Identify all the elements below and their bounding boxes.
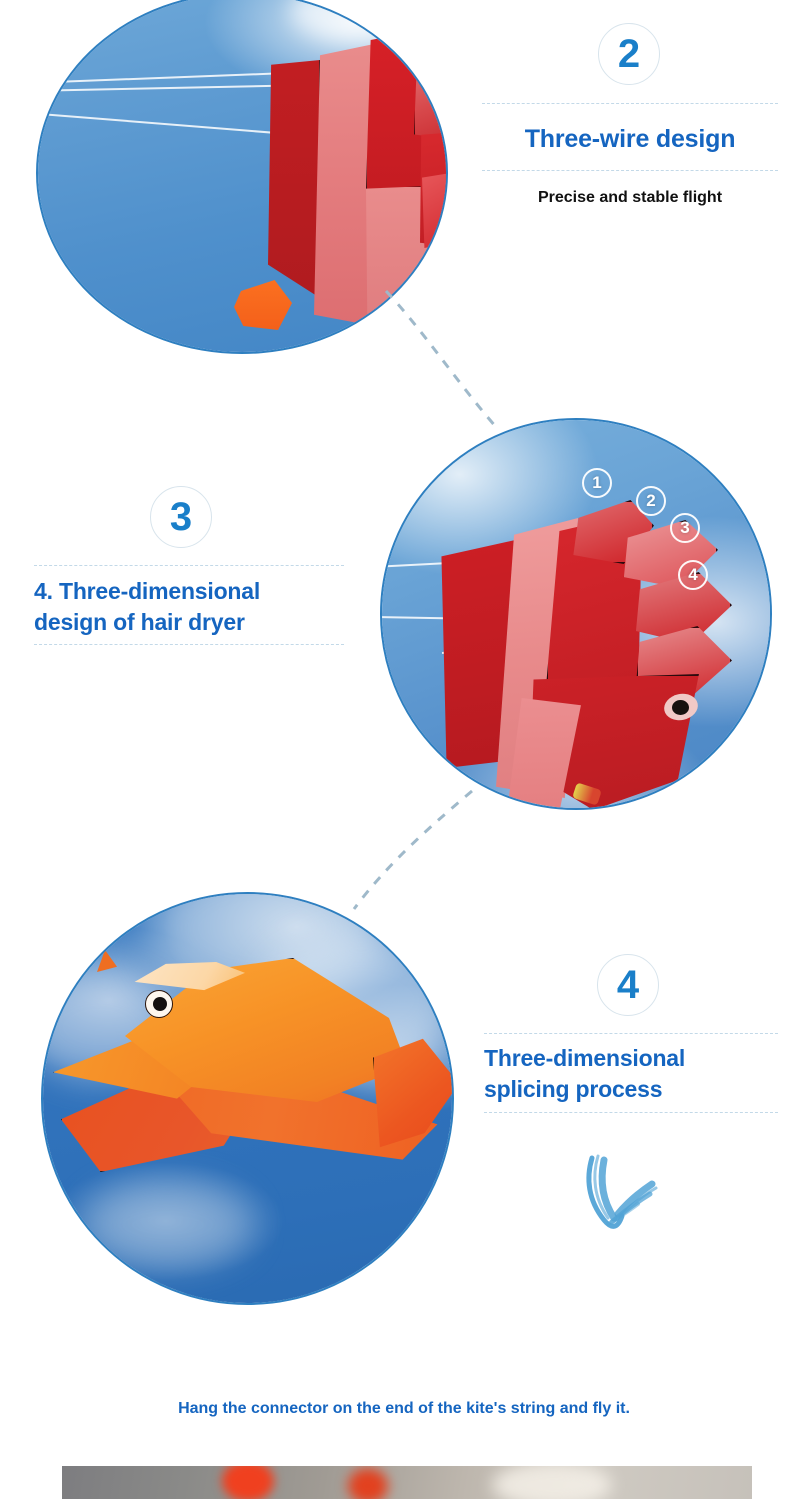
step2-title: Three-wire design bbox=[482, 123, 778, 155]
step2-rule-bottom bbox=[482, 170, 778, 171]
step3-title-line2: design of hair dryer bbox=[34, 609, 245, 635]
step4-title-line2: splicing process bbox=[484, 1076, 662, 1102]
step3-title-line1: 4. Three-dimensional bbox=[34, 578, 260, 604]
step2-rule-top bbox=[482, 103, 778, 104]
red-parafoil-kite-three-strings-photo bbox=[36, 0, 448, 354]
footer-caption: Hang the connector on the end of the kit… bbox=[0, 1400, 808, 1418]
photo-callout-2-label: 2 bbox=[646, 491, 655, 511]
orange-fish-kite-photo bbox=[41, 892, 454, 1305]
step-number-badge-3: 3 bbox=[150, 486, 212, 548]
next-section-photo-preview bbox=[62, 1466, 752, 1499]
photo-callout-2: 2 bbox=[636, 486, 666, 516]
photo-callout-1: 1 bbox=[582, 468, 612, 498]
step-number-2: 2 bbox=[618, 34, 640, 74]
step4-title: Three-dimensional splicing process bbox=[484, 1043, 784, 1105]
red-kite-cell-closeup-photo: 1 2 3 4 bbox=[380, 418, 772, 810]
photo-callout-3: 3 bbox=[670, 513, 700, 543]
step3-rule-top bbox=[34, 565, 344, 566]
step4-title-line1: Three-dimensional bbox=[484, 1045, 685, 1071]
photo-callout-3-label: 3 bbox=[680, 518, 689, 538]
step-number-badge-2: 2 bbox=[598, 23, 660, 85]
step3-title: 4. Three-dimensional design of hair drye… bbox=[34, 576, 364, 638]
photo-callout-1-label: 1 bbox=[592, 473, 601, 493]
step-number-4: 4 bbox=[617, 965, 639, 1005]
photo-callout-4-label: 4 bbox=[688, 565, 697, 585]
step4-rule-top bbox=[484, 1033, 778, 1034]
step2-subtitle: Precise and stable flight bbox=[482, 189, 778, 207]
step4-rule-bottom bbox=[484, 1112, 778, 1113]
photo-callout-4: 4 bbox=[678, 560, 708, 590]
blue-brush-check-mark-icon bbox=[572, 1148, 672, 1243]
infographic-page: 2 Three-wire design Precise and stable f… bbox=[0, 0, 808, 1499]
step3-rule-bottom bbox=[34, 644, 344, 645]
step-number-badge-4: 4 bbox=[597, 954, 659, 1016]
step-number-3: 3 bbox=[170, 497, 192, 537]
